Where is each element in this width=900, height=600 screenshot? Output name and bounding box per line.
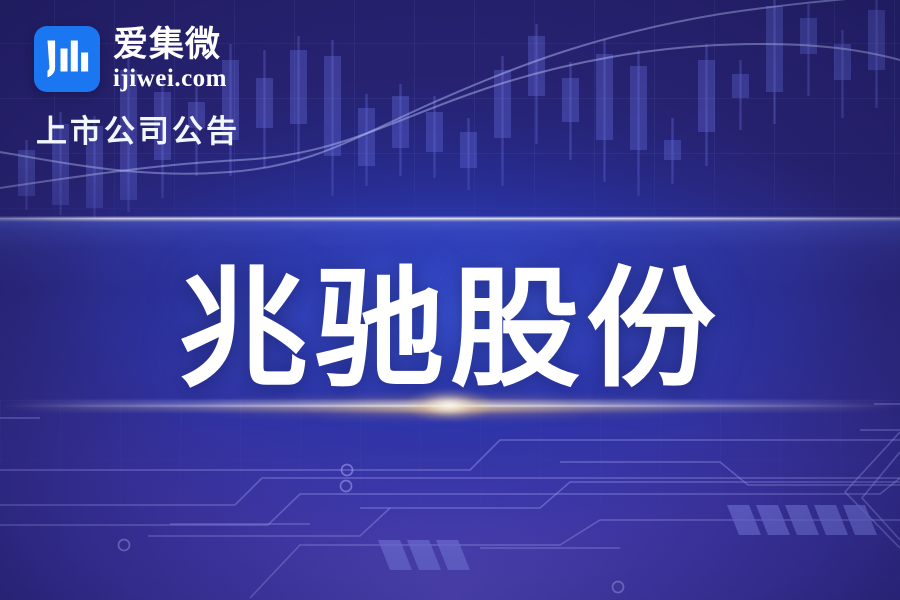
logo-badge[interactable] [34,26,100,92]
brand-domain: ijiwei.com [113,66,227,91]
wordmark: 爱集微 ijiwei.com [113,27,227,91]
announcement-banner: 爱集微 ijiwei.com 上市公司公告 兆驰股份 [0,0,900,600]
brand-name-cn: 爱集微 [113,27,227,62]
brand-subtitle: 上市公司公告 [36,106,240,151]
brand-block: 爱集微 ijiwei.com 上市公司公告 [34,26,240,151]
ijiwei-bar-chart-logo-icon [44,39,90,79]
brand-row: 爱集微 ijiwei.com [34,26,240,92]
